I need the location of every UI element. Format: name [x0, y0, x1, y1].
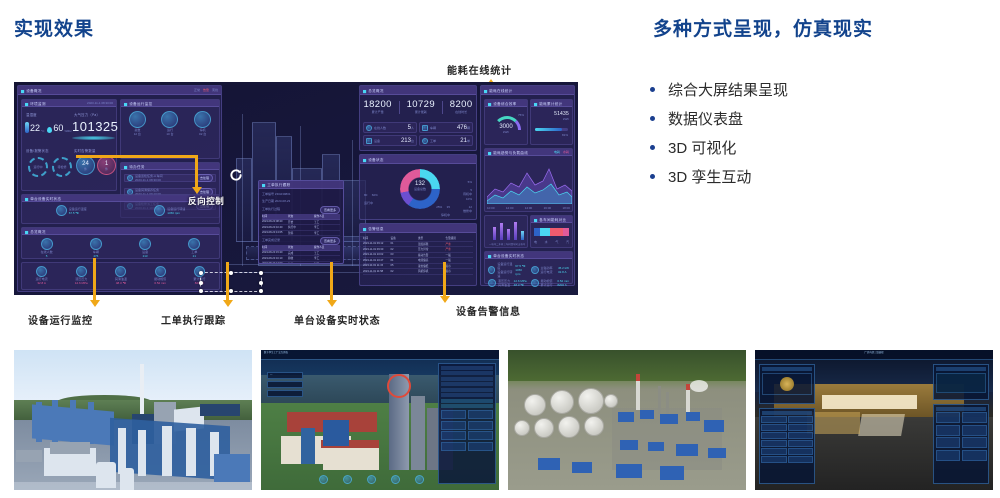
page-title-left: 实现效果 [14, 14, 94, 41]
legend-pct: 60% [372, 193, 378, 197]
param-row: 主轴功率 运行电流 45.2 kW 32.8 A [531, 262, 570, 278]
list-item: 3D 可视化 [650, 133, 990, 162]
humidity-unit: %RH [64, 129, 71, 133]
vibration-icon [155, 266, 166, 277]
stat-tile[interactable]: 在线人数 5 人 [363, 122, 417, 133]
panel-title: 设备状态 [363, 156, 384, 161]
legend-item: 气 [555, 240, 558, 244]
donut-legend-running: 80 60% 运行中 [364, 183, 378, 205]
humidity-value: 60 [53, 124, 63, 133]
legend-label: 停机中 [436, 213, 450, 217]
donut-legend-stopped: 25% 35 停机中 [436, 195, 450, 217]
callout-label-energy: 能耗在线统计 [447, 62, 512, 77]
param-row: 液压压力 润滑油温 12.6 MPa 48.3 ℃ [488, 279, 527, 287]
topbar-title: 数字孪生工厂交互界面 [264, 352, 288, 355]
donut-legend-repair: 10% 12 维修中 [463, 187, 472, 213]
cell-device: 03 [391, 253, 419, 256]
steam-icon [188, 238, 200, 250]
card-icon-group-2: 总览概况 在线人数 5 车辆 476 设备 [21, 227, 220, 259]
list-item-label: 综合大屏结果呈现 [668, 79, 788, 100]
vibration-gauge-icon [531, 279, 539, 287]
panel-header: 告警信息 [360, 224, 476, 233]
thumbnail-digital-twin-ui[interactable]: 数字孪生工厂交互界面 — [261, 350, 499, 490]
cell-operator: 张工 [314, 262, 340, 264]
kpi-tile[interactable]: 车辆 476 [90, 238, 102, 258]
param-item[interactable]: 设备运行温度 67.5 ℃ [56, 205, 87, 216]
list-item-label: 3D 可视化 [668, 137, 736, 158]
arrow-head-icon [440, 296, 450, 303]
thumbnail-indoor-inspection[interactable]: 厂房内部三维巡视 [755, 350, 993, 490]
kpi-value: 10729 [407, 99, 435, 110]
list-item: 综合大屏结果呈现 [650, 75, 990, 104]
thermometer-icon [25, 122, 29, 133]
kpi-block: 8200 在线时长 [450, 99, 473, 114]
callout-arrow-1 [93, 258, 96, 302]
dashboard-screenshot: 设备概况 正常 告警 离线 环境监测 2023-11-1 08:30:00 温湿… [14, 82, 578, 295]
callout-label-2: 工单执行跟踪 [161, 312, 226, 327]
kpi-value: 21 [188, 254, 200, 258]
x-tick: 二车间 [496, 242, 503, 246]
bottom-toolbar[interactable] [311, 472, 431, 486]
x-tick: 18:00 [562, 206, 570, 210]
param-key-2: 设备运行转速 [497, 270, 513, 278]
cell-level: 一般 [446, 258, 474, 262]
card-header: 各车间能耗对比 [531, 216, 572, 223]
resize-handle[interactable] [259, 289, 263, 293]
cell-level: 提示 [446, 269, 474, 273]
cell-type: 电流偏高 [418, 258, 446, 262]
monitor-icon [194, 111, 211, 128]
arrow-head-icon [90, 300, 100, 307]
card-header: 设备综合效率 [485, 100, 527, 107]
card-header: 能耗累计统计 [531, 100, 572, 107]
card-header: 总览概况 [22, 228, 219, 235]
current-icon [36, 266, 47, 277]
topbar: 厂房内部三维巡视 [755, 350, 993, 360]
legend-item: 汽 [566, 240, 569, 244]
legend-item: 水 [545, 240, 548, 244]
cell-time: 2023-11-01 10:02 [363, 253, 391, 256]
left-table-panel[interactable] [759, 408, 815, 484]
list-item-label: 3D 孪生互动 [668, 166, 751, 187]
hydraulic-icon [488, 279, 496, 287]
x-tick: 三车间 [504, 242, 511, 246]
task-time: 2023-11-1 08:30:00 [135, 178, 163, 182]
card-icon-group-3: 运行电流 32.8 A 液压压力 12.6 MPa 润滑油温 48.3 ℃ [21, 262, 220, 290]
callout-label-1: 设备运行监控 [28, 312, 93, 327]
overlay-label-reverse-control: 反向控制 [188, 195, 224, 207]
stat-tile[interactable]: 工单 21 单 [419, 135, 473, 146]
legend-item: 水耗 [563, 150, 569, 154]
gear-icon [161, 111, 178, 128]
param-row: 设备运行温度 设备运行转速 67.5 ℃ 1450 rpm [488, 262, 527, 278]
card-energy-total: 能耗累计统计 51435 kWh 81% [530, 99, 573, 145]
cell-time: 2023-08-23 15:20 [262, 251, 288, 254]
cell-type: 温度超限 [418, 242, 446, 246]
kpi-block: 18200 累计产量 [363, 99, 391, 114]
legend-item: 电 [534, 240, 537, 244]
param-value: 48.3 ℃ [115, 281, 127, 285]
stat-value: 476 [457, 125, 467, 131]
toolbar-icon[interactable] [391, 475, 400, 484]
right-map-panel[interactable] [933, 364, 989, 400]
param-value: 32.8 A [36, 281, 48, 285]
param-tile[interactable]: 振动幅值 0.52 mm [154, 266, 166, 285]
cell-type: 液位偏低 [418, 264, 446, 268]
cell-time: 2023-11-01 11:58 [363, 270, 391, 273]
status-ring-label: 运行中 [33, 165, 42, 169]
cell-level: 提示 [446, 264, 474, 268]
meta-value: 2023-08-23 [275, 199, 290, 203]
card-device-monitor: 设备运行监控 总数 12 台 运行 10 台 停机 [120, 99, 220, 159]
tile-count: 02 台 [194, 132, 211, 136]
legend-label: 运行中 [364, 201, 378, 205]
cell-time: 2023-11-01 11:15 [363, 264, 391, 267]
kpi-tile[interactable]: 设备 213 [139, 238, 151, 258]
column-header: 类型 [418, 236, 446, 240]
tile-device-total[interactable]: 总数 12 台 [129, 111, 146, 136]
resize-handle[interactable] [259, 281, 263, 285]
legend-pct: 10% [466, 197, 472, 201]
card-title: 单台设备实时状态 [488, 252, 524, 257]
cell-time: 2023-08-23 16:10 [262, 257, 288, 260]
param-value-2: 48.3 ℃ [514, 283, 527, 287]
toolbar-icon[interactable] [415, 475, 424, 484]
tile-count: 10 台 [161, 132, 178, 136]
card-gauge-efficiency: 设备综合效率 3000 kWh 75% [484, 99, 528, 145]
card-title: 设备综合效率 [488, 100, 517, 105]
cell-device: 01 [391, 242, 419, 245]
column-header: 操作人员 [314, 245, 340, 249]
column-header: 操作人员 [314, 214, 340, 218]
tile-device-stopped[interactable]: 停机 02 台 [194, 111, 211, 136]
left-menu[interactable]: — [267, 372, 303, 398]
thumbnail-gallery: 数字孪生工厂交互界面 — [14, 350, 993, 490]
meta-row: 工单编号 ZD4239801 [262, 192, 291, 196]
pressure-label: 大气压力（Pa） [74, 112, 100, 117]
callout-arrow-4 [443, 262, 446, 298]
workorder-done-table: 时间 状态 操作人员 2023-08-23 15:20 完成 王工 2023-0… [262, 245, 340, 264]
donut-center-label: 设备总数 [400, 187, 440, 191]
param-value-2: 8200 h [557, 283, 569, 287]
stat-label: 车辆 [430, 126, 436, 130]
param-value: 0.52 mm [154, 281, 166, 285]
x-tick: 四车间 [511, 242, 518, 246]
refresh-icon[interactable] [229, 168, 243, 182]
table-row[interactable]: 2023-08-23 13:05 暂停 李工 [262, 231, 340, 237]
card-title: 设备运行监控 [124, 100, 153, 105]
hotspot-marker-icon[interactable] [387, 374, 411, 398]
legend-count: 80 [364, 193, 367, 197]
resize-handle[interactable] [199, 271, 203, 275]
kpi-tile[interactable]: 在线人数 5 [41, 238, 53, 258]
card-header: 单台设备实时状态 [485, 252, 572, 259]
kpi-label: 在线时长 [450, 110, 473, 114]
subsection-title: 工单执行过程 [262, 207, 280, 211]
toolbar-icon[interactable] [367, 475, 376, 484]
kpi-value: 8200 [450, 99, 473, 110]
card-workshop-bars: 一车间 二车间 三车间 四车间 五车间 [484, 215, 528, 248]
panel-overview-stats: 总览概况 18200 累计产量 10729 累计能耗 8200 在线时长 [359, 85, 477, 151]
energy-total-unit: kWh [554, 117, 569, 121]
callout-arrow-3 [330, 262, 333, 302]
page-title-right: 多种方式呈现，仿真现实 [653, 14, 873, 41]
left-info-panel[interactable] [759, 364, 815, 404]
stat-unit: 台 [411, 139, 414, 143]
alarm-count-unit: 件 [84, 167, 87, 171]
gauge-unit: kWh [485, 130, 527, 134]
column-header: 状态 [288, 214, 314, 218]
callout-label-3: 单台设备实时状态 [294, 312, 380, 327]
temp-unit: °C [41, 129, 44, 133]
card-header: 设备运行监控 [121, 100, 219, 107]
stat-tile[interactable]: 车辆 476 辆 [419, 122, 473, 133]
stat-value: 21 [460, 138, 467, 144]
resize-handle[interactable] [229, 289, 233, 293]
column-header: 设备 [391, 236, 419, 240]
card-header: 待办任务 [121, 163, 219, 170]
fault-count-unit: 件 [105, 167, 108, 171]
cell-operator: 李工 [314, 225, 340, 229]
card-timestamp: 2023-11-1 08:30:00 [87, 101, 113, 105]
card-title: 能耗累计统计 [534, 100, 563, 105]
view-more-button-2[interactable]: 查看更多 [320, 237, 340, 245]
card-title: 各车间能耗对比 [534, 216, 566, 221]
cell-level: 严重 [446, 247, 474, 251]
cell-operator: 王工 [314, 251, 340, 255]
card-title: 单台设备实时状态 [25, 195, 61, 200]
stat-unit: 人 [411, 126, 414, 130]
oil-temp-icon [115, 266, 126, 277]
legend-pct: 25% [436, 205, 442, 209]
bullet-dot-icon [650, 174, 655, 179]
arrow-head-icon [223, 300, 233, 307]
task-action-button[interactable]: 去处理 [196, 174, 213, 182]
meta-row: 生产日期 2023-08-23 [262, 199, 290, 203]
x-tick: 一车间 [489, 242, 496, 246]
energy-area-chart [487, 159, 572, 204]
card-energy-compare: 各车间能耗对比 电 水 气 汽 [530, 215, 573, 248]
stat-value: 213 [401, 138, 411, 144]
list-item[interactable]: 设备巡检任务-A 车间 2023-11-1 08:30:00 去处理 [124, 174, 216, 182]
toolbar-icon[interactable] [319, 475, 328, 484]
panel-title: 设备概况 [21, 87, 42, 92]
right-grid-panel[interactable] [933, 404, 989, 484]
stat-label: 工单 [430, 139, 436, 143]
humidity-icon [47, 127, 52, 133]
bullet-dot-icon [650, 116, 655, 121]
person-icon [366, 125, 372, 131]
panel-title: 能耗在线统计 [484, 87, 513, 92]
card-header: 环境监测 2023-11-1 08:30:00 [22, 100, 116, 107]
callout-label-4: 设备告警信息 [456, 303, 521, 318]
column-header: 时间 [262, 214, 288, 218]
column-header: 告警级别 [446, 236, 474, 240]
panel-energy-statistics: 能耗在线统计 设备综合效率 3000 kWh 75% 能耗累计统计 51435 [480, 85, 575, 286]
param-value: 1450 rpm [167, 211, 185, 215]
panel-device-status-donut: 设备状态 132 设备总数 80 60% 运行中 5% 5 待机中 10% 12… [359, 154, 477, 220]
cell-status: 完成 [288, 251, 314, 255]
thumbnail-aerial-refinery[interactable] [508, 350, 746, 490]
card-title: 总览概况 [25, 228, 46, 233]
param-tile[interactable]: 运行电流 32.8 A [36, 266, 48, 285]
kpi-tile[interactable]: 工单 21 [188, 238, 200, 258]
x-tick: 五车间 [518, 242, 525, 246]
kpi-value: 18200 [363, 99, 391, 110]
param-key-2: 累计运行 [541, 283, 553, 287]
legend-item: 电耗 [554, 150, 560, 154]
resize-handle[interactable] [229, 271, 233, 275]
card-title: 待办任务 [124, 163, 145, 168]
temperature-icon [56, 205, 67, 216]
toolbar-icon[interactable] [343, 475, 352, 484]
right-data-panel[interactable] [438, 363, 496, 484]
param-value-2: 1450 rpm [515, 268, 526, 276]
pressure-icon [76, 266, 87, 277]
cell-type: 风机停机 [418, 269, 446, 273]
card-title: 环境监测 [25, 100, 46, 105]
cell-status: 开始 [288, 220, 314, 224]
progress-fill [535, 128, 562, 131]
bullet-dot-icon [650, 145, 655, 150]
panel-title: 告警信息 [363, 225, 384, 230]
wrench-icon [422, 138, 428, 144]
column-header: 时间 [262, 245, 288, 249]
task-icon [127, 175, 133, 181]
param-value: 67.5 ℃ [69, 211, 87, 215]
stat-label: 设备 [374, 139, 380, 143]
gauge-pct: 75% [518, 113, 524, 117]
workorder-table: 时间 状态 操作人员 2023-08-23 08:20 开始 王工 2023-0… [262, 214, 340, 236]
card-realtime-params: 单台设备实时状态 设备运行温度 设备运行转速 67.5 ℃ 1450 rpm [484, 251, 573, 284]
meta-value: ZD4239801 [275, 192, 291, 196]
cell-status: 验收 [288, 256, 314, 260]
param-value: 12.6 MPa [75, 281, 88, 285]
cell-operator: 王工 [314, 220, 340, 224]
legend-item: 正常 [194, 88, 200, 92]
cell-status: 执行中 [288, 225, 314, 229]
alarm-label: 实时告警数量 [74, 148, 96, 153]
card-energy-trend: 能耗趋势与负载曲线 电耗 水耗 10:00 12:00 14:00 16:00 … [484, 148, 573, 212]
kpi-value: 5 [41, 254, 53, 258]
stacked-bar [534, 228, 569, 236]
tile-device-running[interactable]: 运行 10 台 [161, 111, 178, 136]
x-tick: 12:00 [506, 206, 514, 210]
list-item: 数据仪表盘 [650, 104, 990, 133]
cell-time: 2023-11-01 09:30 [363, 248, 391, 251]
table-row[interactable]: 2023-08-23 17:00 归档 张工 [262, 262, 340, 265]
param-item[interactable]: 设备运行转速 1450 rpm [154, 205, 185, 216]
cell-type: 振动告警 [418, 253, 446, 257]
cell-device: 01 [391, 259, 419, 262]
legend-item: 离线 [212, 88, 218, 92]
gas-icon [139, 238, 151, 250]
resize-handle[interactable] [199, 289, 203, 293]
arrow-head-icon [327, 300, 337, 307]
param-key: 设备运行温度 [497, 262, 513, 270]
resize-handle[interactable] [259, 271, 263, 275]
cell-device: 02 [391, 270, 419, 273]
truck-icon [422, 125, 428, 131]
panel-header: 能耗在线统计 [481, 86, 574, 95]
selection-box[interactable] [200, 272, 262, 292]
cell-device: 05 [391, 264, 419, 267]
temp-value: 22 [30, 124, 40, 133]
x-tick: 10:00 [487, 206, 495, 210]
water-icon [90, 238, 102, 250]
device-icon [366, 138, 372, 144]
kpi-label: 累计能耗 [407, 110, 435, 114]
cell-time: 2023-08-23 17:00 [262, 262, 288, 264]
fault-count-badge: 1 件 [97, 156, 116, 175]
list-item-label: 数据仪表盘 [668, 108, 743, 129]
cell-time: 2023-11-01 09:12 [363, 242, 391, 245]
cell-time: 2023-08-23 13:05 [262, 231, 288, 234]
panel-workorder-detail: 工单执行跟踪 工单编号 ZD4239801 生产日期 2023-08-23 工单… [258, 180, 344, 264]
cell-status: 暂停 [288, 231, 314, 235]
progress-track [535, 128, 568, 131]
param-key-2: 润滑油温 [498, 283, 510, 287]
kpi-block: 10729 累计能耗 [407, 99, 435, 114]
view-more-button[interactable]: 查看更多 [320, 206, 340, 214]
kpi-label: 累计产量 [363, 110, 391, 114]
pressure-value: 101325 [72, 120, 118, 133]
cell-level: 一般 [446, 253, 474, 257]
resize-handle[interactable] [199, 281, 203, 285]
temp-gauge-icon [488, 266, 495, 274]
stat-tile[interactable]: 设备 213 台 [363, 135, 417, 146]
panel-title: 工单执行跟踪 [262, 182, 291, 187]
panel-title: 总览概况 [363, 87, 384, 92]
cell-time: 2023-11-01 10:47 [363, 259, 391, 262]
stat-label: 在线人数 [374, 126, 386, 130]
thumbnail-plant-overview[interactable] [14, 350, 252, 490]
meta-key: 生产日期 [262, 199, 274, 203]
pressure-underline [72, 136, 115, 140]
power-gauge-icon [531, 266, 539, 274]
legend-item: 告警 [203, 88, 209, 92]
table-row[interactable]: 2023-11-01 11:58 02 风机停机 提示 [363, 269, 473, 275]
param-value-2: 32.8 A [558, 270, 569, 274]
speed-icon [154, 205, 165, 216]
card-environment: 环境监测 2023-11-1 08:30:00 温湿度 大气压力（Pa） 22 … [21, 99, 117, 191]
x-tick: 16:00 [544, 206, 552, 210]
param-key-2: 运行电流 [541, 270, 553, 274]
param-tile[interactable]: 润滑油温 48.3 ℃ [115, 266, 127, 285]
stat-unit: 辆 [467, 126, 470, 130]
cell-status: 归档 [288, 262, 314, 264]
panel-header: 总览概况 [360, 86, 476, 95]
subsection-title-2: 工单完成记录 [262, 238, 280, 242]
energy-pct: 81% [562, 133, 568, 137]
legend-count: 35 [447, 205, 450, 209]
status-ring-maintenance: 待检修 [52, 157, 72, 177]
factory-icon [129, 111, 146, 128]
param-tile[interactable]: 液压压力 12.6 MPa [75, 266, 88, 285]
legend-label: 维修中 [463, 209, 472, 213]
status-label: 设备/报警状态 [26, 148, 49, 153]
alarm-count-badge: 24 件 [76, 156, 95, 175]
panel-header: 设备状态 [360, 155, 476, 164]
cell-time: 2023-08-23 10:40 [262, 226, 288, 229]
kpi-value: 213 [139, 254, 151, 258]
cell-operator: 李工 [314, 231, 340, 235]
x-tick: 14:00 [525, 206, 533, 210]
cell-type: 压力异常 [418, 247, 446, 251]
feature-list: 综合大屏结果呈现 数据仪表盘 3D 可视化 3D 孪生互动 [650, 75, 990, 191]
tile-count: 12 台 [129, 132, 146, 136]
topbar-title: 厂房内部三维巡视 [864, 352, 883, 355]
